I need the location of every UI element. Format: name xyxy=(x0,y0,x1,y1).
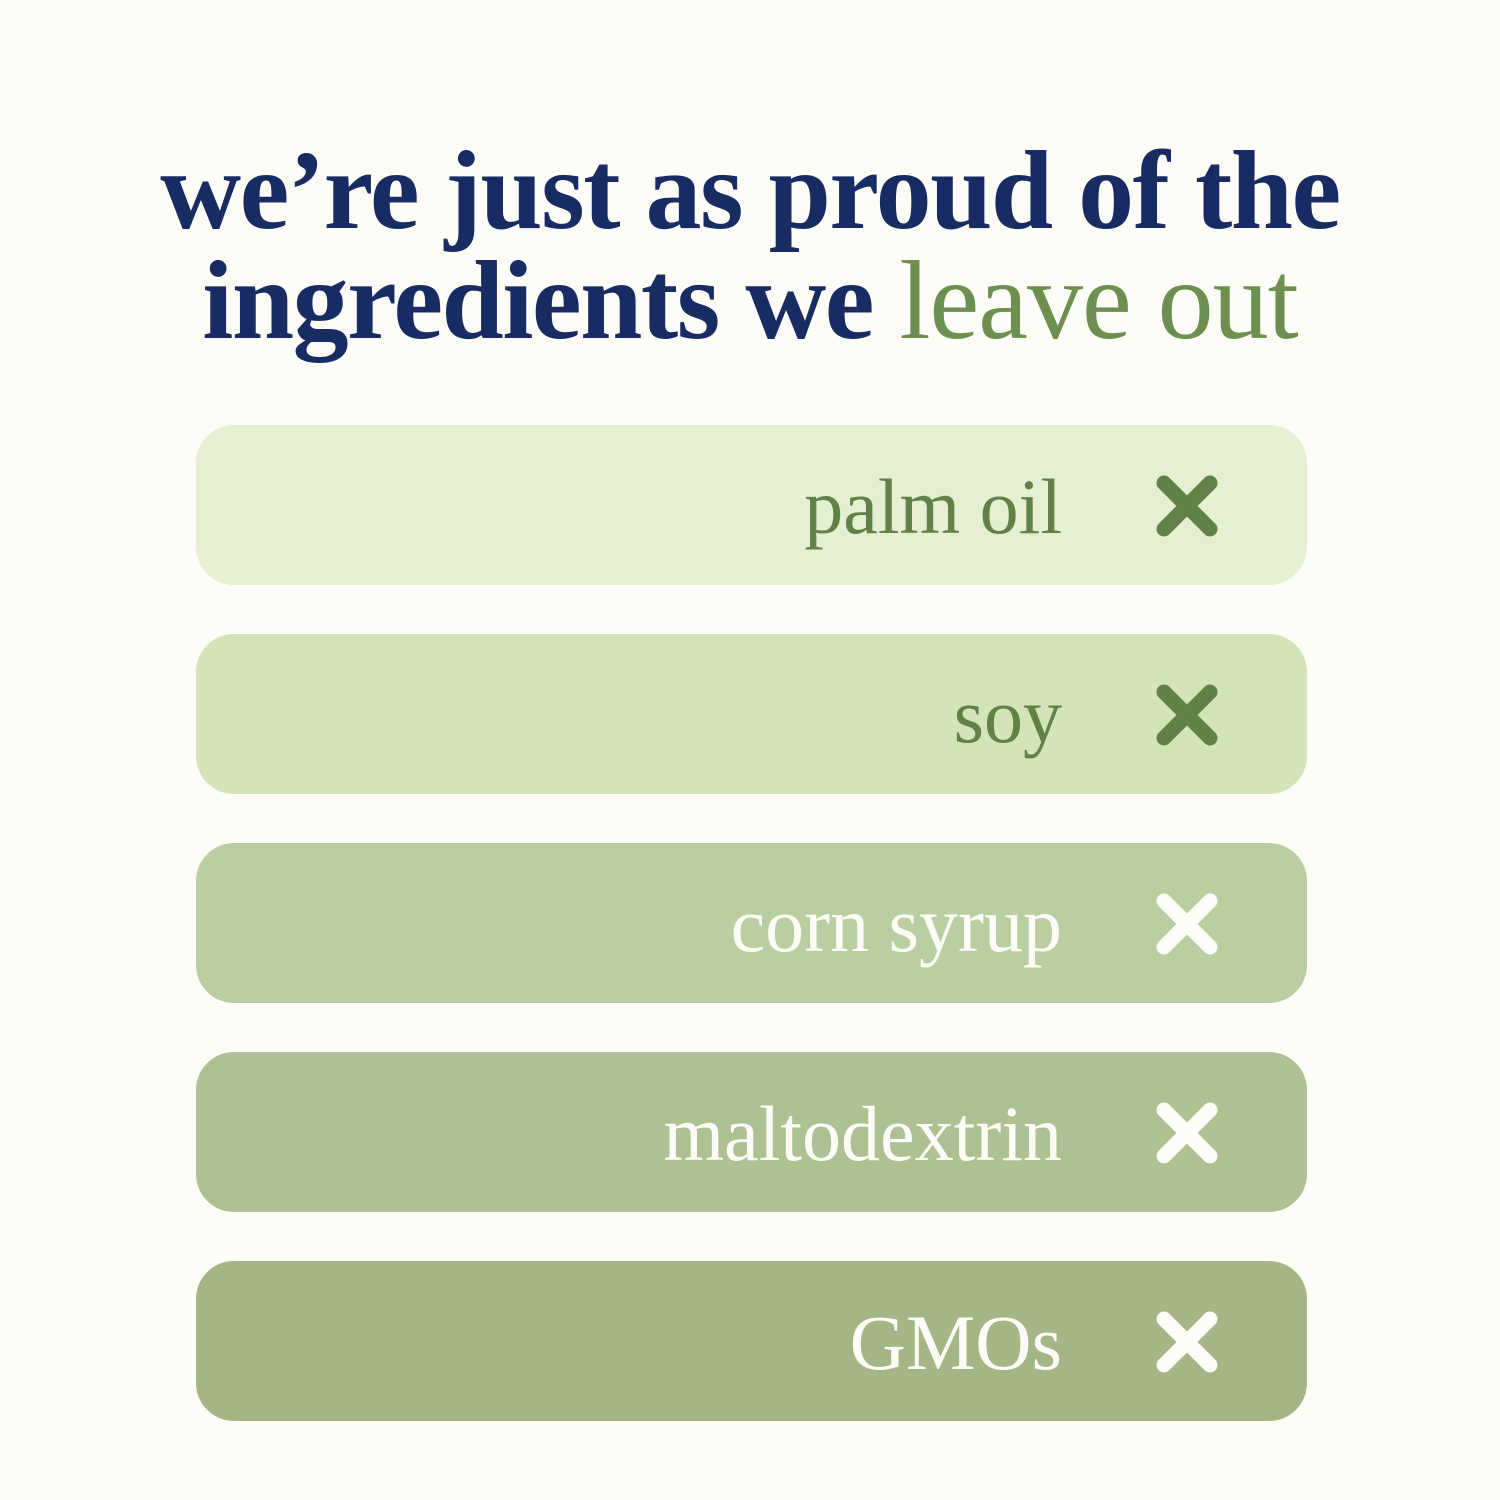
page-title: we’re just as proud of the ingredients w… xyxy=(0,137,1500,357)
headline-line-2-navy: ingredients we xyxy=(202,239,899,363)
close-x-icon[interactable] xyxy=(1144,885,1230,961)
ingredient-label: corn syrup xyxy=(196,882,1062,964)
ingredient-label: palm oil xyxy=(196,464,1062,546)
headline-line-2-accent: leave out xyxy=(899,239,1297,363)
close-x-icon[interactable] xyxy=(1144,1303,1230,1379)
close-x-icon[interactable] xyxy=(1144,1094,1230,1170)
ingredient-label: maltodextrin xyxy=(196,1091,1062,1173)
list-item[interactable]: corn syrup xyxy=(196,843,1307,1003)
list-item[interactable]: palm oil xyxy=(196,425,1307,585)
excluded-ingredients-list: palm oil soy corn syrup xyxy=(196,425,1307,1421)
list-item[interactable]: soy xyxy=(196,634,1307,794)
ingredient-label: soy xyxy=(196,673,1062,755)
list-item[interactable]: maltodextrin xyxy=(196,1052,1307,1212)
close-x-icon[interactable] xyxy=(1144,676,1230,752)
close-x-icon[interactable] xyxy=(1144,467,1230,543)
headline-line-2: ingredients we leave out xyxy=(0,247,1500,357)
list-item[interactable]: GMOs xyxy=(196,1261,1307,1421)
headline-line-1: we’re just as proud of the xyxy=(0,137,1500,247)
ingredient-label: GMOs xyxy=(196,1300,1062,1382)
